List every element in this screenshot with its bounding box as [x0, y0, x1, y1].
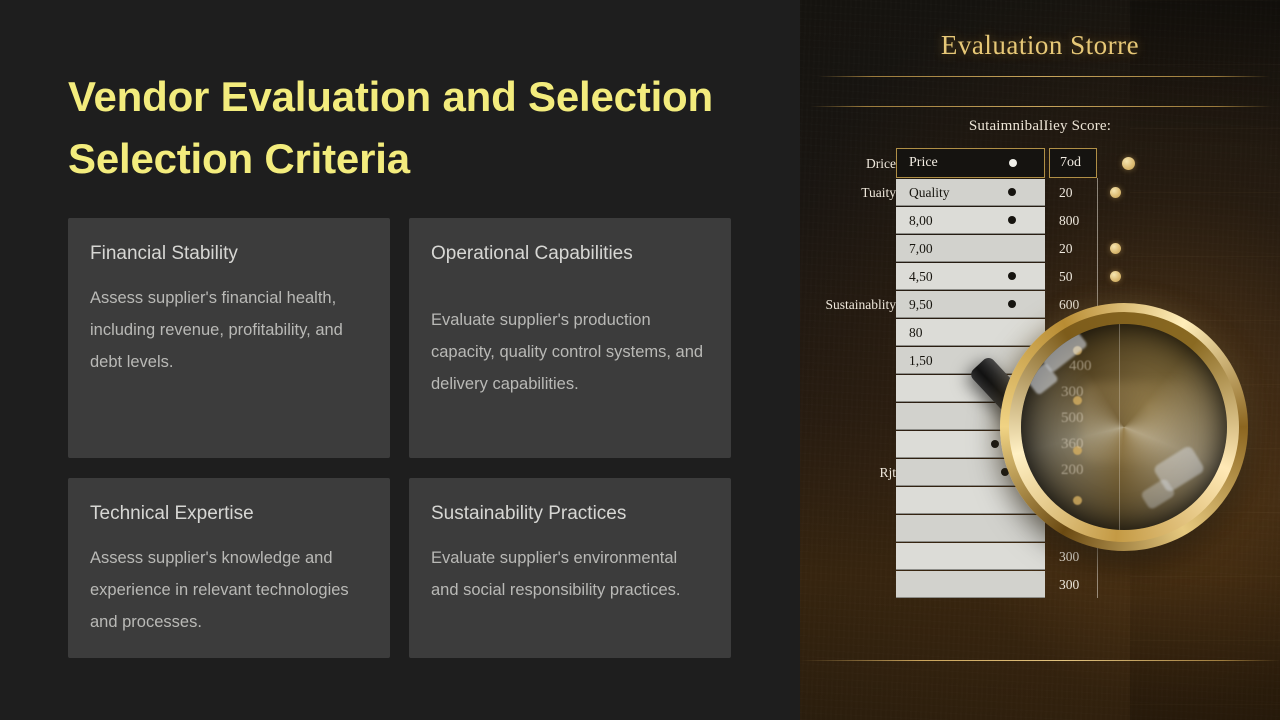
table-dot-icon: [1008, 272, 1016, 280]
table-cell-label: 1,50: [909, 353, 933, 369]
divider-line-bottom: [810, 106, 1272, 107]
table-header-value: 7od: [1060, 155, 1081, 171]
criteria-card-operational-capabilities[interactable]: Operational Capabilities Evaluate suppli…: [409, 218, 731, 458]
table-row: Quality: [896, 179, 1045, 206]
card-title: Sustainability Practices: [431, 502, 709, 526]
criteria-card-sustainability-practices[interactable]: Sustainability Practices Evaluate suppli…: [409, 478, 731, 658]
magnifier-lens: 400 300 500 360 200: [1021, 324, 1227, 530]
table-cell-label: Quality: [909, 185, 950, 201]
table-row: 7,00: [896, 235, 1045, 262]
table-dot-icon: [991, 440, 999, 448]
table-cell-value: 50: [1059, 269, 1073, 285]
table-cell-label: 9,50: [909, 297, 933, 313]
table-value-cell: 20: [1049, 179, 1097, 206]
decorative-image-panel: Evaluation Storre SutaimnibalIiey Score:…: [800, 0, 1280, 720]
table-cell-label: 7,00: [909, 241, 933, 257]
table-cell-value: 800: [1059, 213, 1079, 229]
criteria-card-financial-stability[interactable]: Financial Stability Assess supplier's fi…: [68, 218, 390, 458]
table-dot-icon: [1009, 159, 1017, 167]
table-row-label: Sustainablity: [800, 297, 896, 313]
divider-line-top: [818, 76, 1270, 77]
card-title: Operational Capabilities: [431, 242, 709, 266]
lens-number: 360: [1061, 436, 1084, 453]
lens-reflection-blur: [1081, 382, 1191, 462]
table-row-label: Tuaity: [800, 185, 896, 201]
card-body: Assess supplier's knowledge and experien…: [90, 542, 368, 638]
table-cell-label: 4,50: [909, 269, 933, 285]
card-body: Evaluate supplier's environmental and so…: [431, 542, 709, 606]
table-dot-icon: [1008, 188, 1016, 196]
table-value-cell: 20: [1049, 235, 1097, 262]
table-cell-label: 8,00: [909, 213, 933, 229]
left-content-area: Vendor Evaluation and Selection Selectio…: [0, 0, 800, 720]
bottom-accent-line: [800, 660, 1280, 661]
card-title: Financial Stability: [90, 242, 368, 266]
table-row: [896, 571, 1045, 598]
table-header-cell-value: 7od: [1049, 148, 1097, 178]
card-body: Evaluate supplier's production capacity,…: [431, 304, 709, 400]
image-subheading: SutaimnibalIiey Score:: [800, 118, 1280, 135]
gold-dot-icon: [1110, 271, 1121, 282]
magnifying-glass-icon: 400 300 500 360 200: [1000, 303, 1260, 563]
table-row: 4,50: [896, 263, 1045, 290]
table-value-cell: 50: [1049, 263, 1097, 290]
criteria-card-technical-expertise[interactable]: Technical Expertise Assess supplier's kn…: [68, 478, 390, 658]
card-title: Technical Expertise: [90, 502, 368, 526]
table-value-cell: 800: [1049, 207, 1097, 234]
lens-number: 400: [1069, 358, 1092, 375]
table-header-cell-price: Price: [896, 148, 1045, 178]
gold-dot-icon: [1122, 157, 1135, 170]
lens-number: 500: [1061, 410, 1084, 427]
slide: Vendor Evaluation and Selection Selectio…: [0, 0, 1280, 720]
table-value-cell: 300: [1049, 571, 1097, 598]
card-body: Assess supplier's financial health, incl…: [90, 282, 368, 378]
table-header-text: Price: [909, 155, 938, 171]
table-cell-value: 20: [1059, 241, 1073, 257]
table-cell-label: 80: [909, 325, 923, 341]
image-heading: Evaluation Storre: [800, 30, 1280, 61]
table-dot-icon: [1008, 216, 1016, 224]
table-row-label: Drice: [800, 156, 896, 172]
score-table: Drice Tuaity Sustainablity Rjt Price 7od…: [800, 148, 1280, 598]
lens-gold-dot: [1073, 496, 1082, 505]
table-row: 8,00: [896, 207, 1045, 234]
lens-number: 300: [1061, 384, 1084, 401]
table-cell-value: 300: [1059, 577, 1079, 593]
gold-dot-icon: [1110, 187, 1121, 198]
lens-number: 200: [1061, 462, 1084, 479]
table-row-label: Rjt: [800, 465, 896, 481]
page-title: Vendor Evaluation and Selection Selectio…: [68, 66, 748, 190]
gold-dot-icon: [1110, 243, 1121, 254]
table-cell-value: 20: [1059, 185, 1073, 201]
